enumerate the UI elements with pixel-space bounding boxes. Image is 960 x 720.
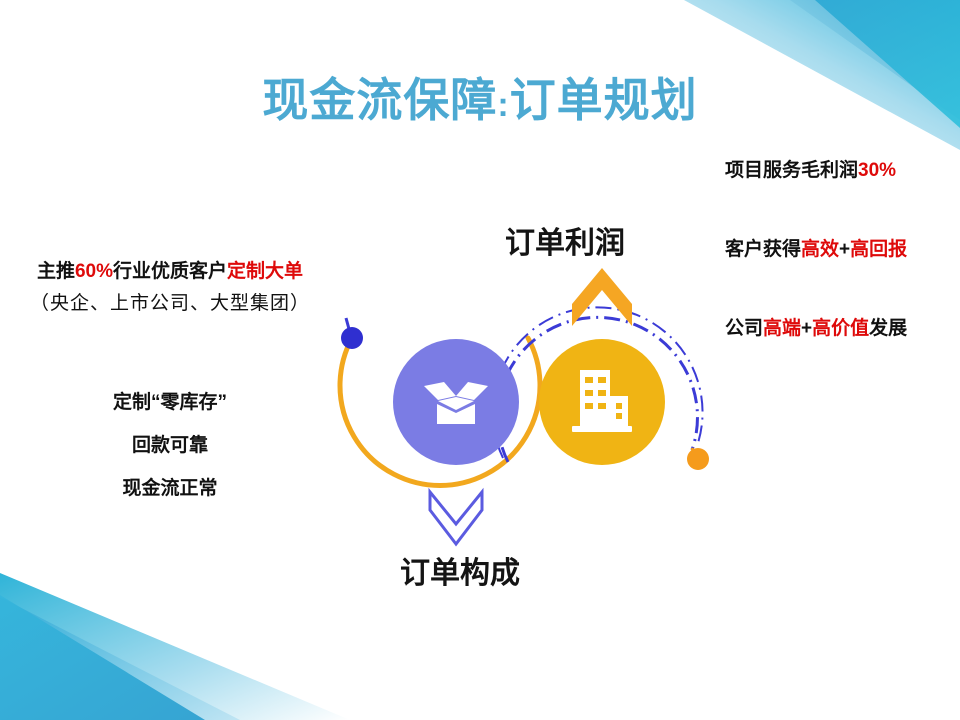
title-colon: :	[497, 86, 509, 124]
left-bullet-item-2: 回款可靠	[0, 425, 340, 468]
left-headline-seg1: 主推	[37, 261, 75, 282]
title-main: 现金流保障	[262, 74, 497, 126]
right-line-1-seg1: 项目服务毛利润	[725, 160, 858, 181]
right-line-2-plus: +	[839, 239, 850, 260]
decoration-bottom-left	[0, 555, 350, 720]
right-line-1-percent: 30%	[858, 160, 896, 181]
diagram-label-top: 订单利润	[505, 218, 725, 262]
right-line-2-seg3: 高回报	[850, 239, 907, 260]
left-bullet-item-3: 现金流正常	[0, 468, 340, 511]
right-line-3-plus: +	[801, 318, 812, 339]
right-line-3-seg4: 发展	[869, 318, 907, 339]
right-line-3-seg1: 公司	[725, 318, 763, 339]
left-headline: 主推60%行业优质客户定制大单	[0, 258, 340, 286]
dot-orange-bottom-right	[687, 448, 709, 470]
right-line-2: 客户获得高效+高回报	[725, 239, 955, 262]
right-line-3-seg2: 高端	[763, 318, 801, 339]
page-title: 现金流保障:订单规划	[0, 64, 960, 130]
dot-blue-top-left	[341, 327, 363, 349]
left-text-block: 主推60%行业优质客户定制大单 （央企、上市公司、大型集团）	[0, 258, 340, 322]
arrow-down-icon	[430, 492, 482, 544]
right-text-block: 项目服务毛利润30% 客户获得高效+高回报 公司高端+高价值发展	[725, 160, 955, 340]
left-bullet-list: 定制“零库存” 回款可靠 现金流正常	[0, 382, 340, 510]
left-headline-seg4: 定制大单	[227, 261, 303, 282]
right-line-3-seg3: 高价值	[812, 318, 869, 339]
slide-canvas: 现金流保障:订单规划 主推60%行业优质客户定制大单 （央企、上市公司、大型集团…	[0, 0, 960, 720]
left-subheadline: （央企、上市公司、大型集团）	[0, 286, 340, 322]
left-bullet-item-1: 定制“零库存”	[0, 382, 340, 425]
diagram-label-bottom: 订单构成	[330, 548, 590, 592]
left-headline-seg3: 行业优质客户	[113, 261, 227, 282]
title-sub: 订单规划	[510, 74, 698, 126]
left-headline-percent: 60%	[75, 261, 113, 282]
right-line-2-seg1: 客户获得	[725, 239, 801, 260]
right-line-1: 项目服务毛利润30%	[725, 160, 955, 183]
right-line-3: 公司高端+高价值发展	[725, 318, 955, 341]
right-line-2-seg2: 高效	[801, 239, 839, 260]
